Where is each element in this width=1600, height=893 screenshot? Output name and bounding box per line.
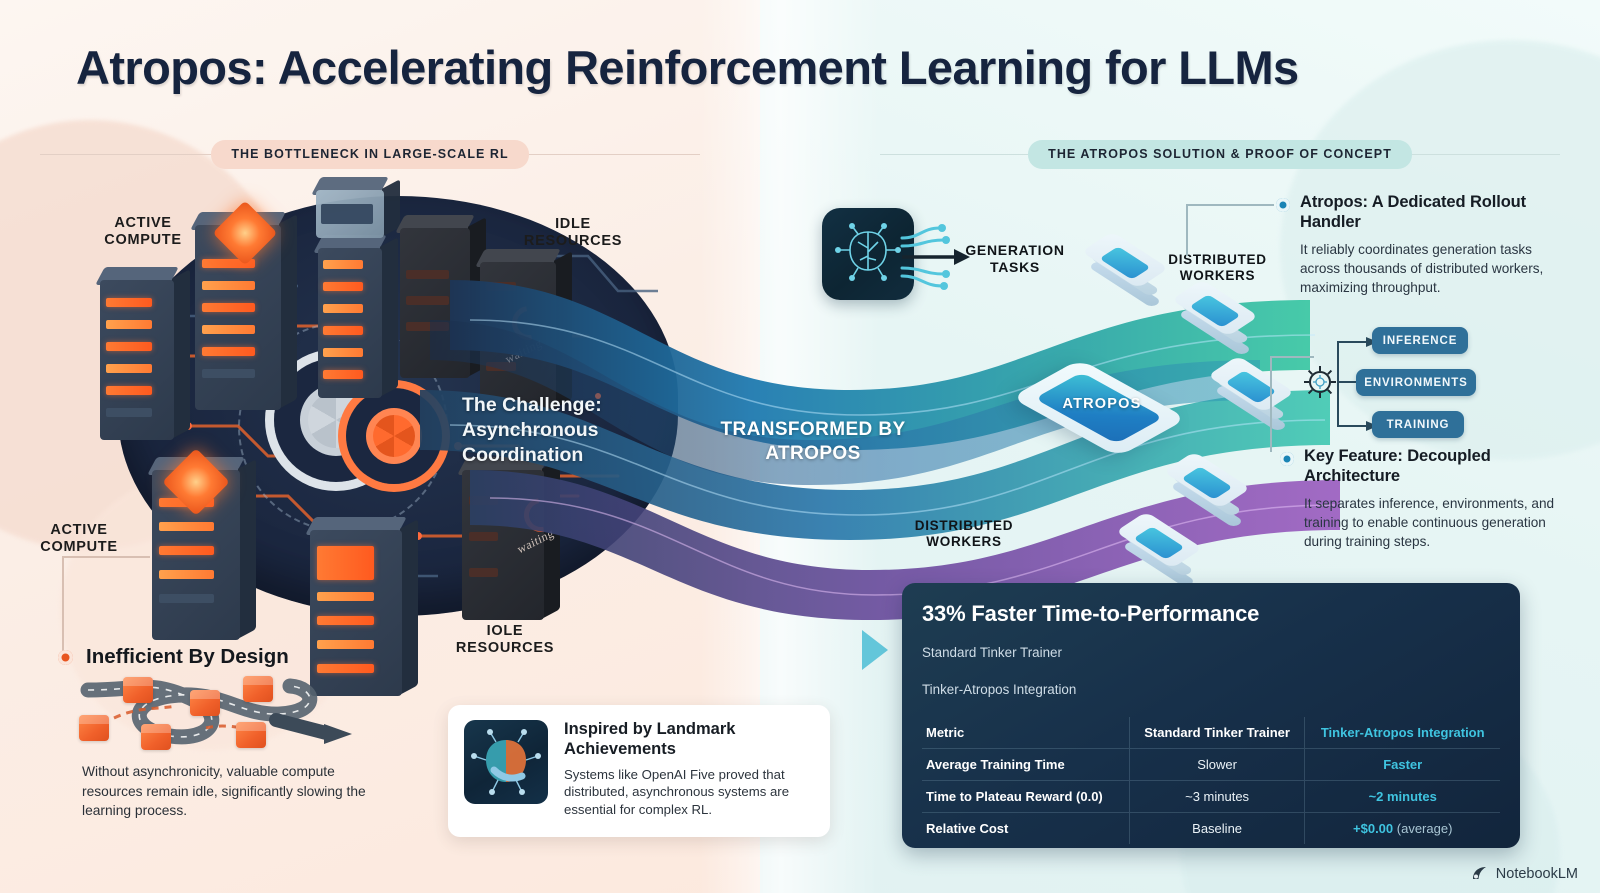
table-row: Relative Cost Baseline +$0.00 (average) [922, 813, 1500, 845]
cell-atropos-note: (average) [1397, 821, 1453, 836]
inefficient-lead-v [62, 556, 64, 652]
package-icon-4 [141, 724, 171, 750]
callout-2-heading: Key Feature: Decoupled Architecture [1304, 446, 1572, 486]
metrics-panel: 33% Faster Time-to-Performance Standard … [902, 583, 1520, 848]
callout-rollout-handler: Atropos: A Dedicated Rollout Handler It … [1300, 192, 1568, 298]
callout-decoupled-architecture: Key Feature: Decoupled Architecture It s… [1304, 446, 1572, 552]
rule-right-b [1412, 154, 1560, 155]
inefficient-body: Without asynchronicity, valuable compute… [82, 762, 374, 821]
label-distributed-workers-bottom: DISTRIBUTED WORKERS [900, 518, 1028, 550]
landmark-card: Inspired by Landmark Achievements System… [448, 705, 830, 837]
panel-pointer-arrow [862, 630, 888, 670]
inefficient-heading: Inefficient By Design [86, 645, 289, 669]
atropos-node-label: ATROPOS [1048, 396, 1156, 412]
brain-split-icon [464, 720, 548, 804]
cell-metric: Average Training Time [922, 749, 1129, 781]
rack-side [172, 269, 190, 439]
package-icon-6 [236, 722, 266, 748]
package-icon-5 [79, 715, 109, 741]
rack-body [316, 190, 384, 238]
section-pill-bottleneck: THE BOTTLENECK IN LARGE-SCALE RL [211, 140, 528, 169]
badge-environments[interactable]: ENVIRONMENTS [1356, 369, 1476, 396]
callout-lead-2-v [1270, 356, 1272, 452]
callout-2-body: It separates inference, environments, an… [1304, 495, 1572, 551]
metrics-table: Metric Standard Tinker Trainer Tinker-At… [922, 717, 1500, 844]
cell-metric: Time to Plateau Reward (0.0) [922, 781, 1129, 813]
inefficient-marker [58, 650, 73, 665]
table-header-row: Metric Standard Tinker Trainer Tinker-At… [922, 717, 1500, 749]
callout-marker-2 [1280, 452, 1294, 466]
inefficient-lead-h [62, 556, 150, 558]
callout-lead-1-v [1186, 204, 1188, 256]
rack-side [279, 214, 297, 409]
package-icon-1 [123, 677, 153, 703]
callout-lead-2-h [1270, 356, 1314, 358]
metrics-legend-standard: Standard Tinker Trainer [922, 645, 1500, 660]
cell-atropos: Faster [1305, 749, 1500, 781]
rack-body [100, 280, 174, 440]
label-active-compute-top: ACTIVE COMPUTE [78, 215, 208, 249]
callout-1-body: It reliably coordinates generation tasks… [1300, 241, 1568, 297]
cell-standard: Baseline [1129, 813, 1305, 845]
col-metric: Metric [922, 717, 1129, 749]
worker-node-2 [1176, 290, 1254, 352]
challenge-note: The Challenge: Asynchronous Coordination [462, 393, 702, 468]
page-title: Atropos: Accelerating Reinforcement Lear… [76, 42, 1526, 95]
callout-lead-1-h [1186, 204, 1274, 206]
badge-inference[interactable]: INFERENCE [1372, 327, 1468, 354]
server-monitor-unit [316, 190, 384, 238]
table-row: Average Training Time Slower Faster [922, 749, 1500, 781]
package-icon-2 [190, 690, 220, 716]
landmark-card-body: Systems like OpenAI Five proved that dis… [564, 766, 814, 819]
col-standard: Standard Tinker Trainer [1129, 717, 1305, 749]
cell-atropos: ~2 minutes [1305, 781, 1500, 813]
rule-left-a [40, 154, 211, 155]
rack-side [238, 459, 256, 639]
badge-training[interactable]: TRAINING [1372, 411, 1464, 438]
notebooklm-logo-icon [1470, 864, 1489, 883]
package-icon-3 [243, 676, 273, 702]
watermark-label: NotebookLM [1496, 866, 1578, 882]
cell-standard: ~3 minutes [1129, 781, 1305, 813]
section-header-left: THE BOTTLENECK IN LARGE-SCALE RL [40, 140, 700, 169]
rule-left-b [529, 154, 700, 155]
worker-node-3 [1212, 366, 1290, 428]
label-active-compute-bottom: ACTIVE COMPUTE [14, 522, 144, 556]
cell-atropos-value: +$0.00 [1353, 821, 1393, 836]
section-pill-solution: THE ATROPOS SOLUTION & PROOF OF CONCEPT [1028, 140, 1412, 169]
section-header-right: THE ATROPOS SOLUTION & PROOF OF CONCEPT [880, 140, 1560, 169]
callout-marker-1 [1276, 198, 1290, 212]
label-generation-tasks: GENERATION TASKS [955, 242, 1075, 275]
callout-1-heading: Atropos: A Dedicated Rollout Handler [1300, 192, 1568, 232]
label-distributed-workers-top: DISTRIBUTED WORKERS [1155, 252, 1280, 284]
transformed-label: TRANSFORMED BY ATROPOS [718, 418, 908, 467]
worker-node-4 [1168, 462, 1246, 524]
rule-right-a [880, 154, 1028, 155]
table-row: Time to Plateau Reward (0.0) ~3 minutes … [922, 781, 1500, 813]
landmark-card-heading: Inspired by Landmark Achievements [564, 720, 814, 760]
server-rack-active-1 [100, 280, 174, 440]
watermark: NotebookLM [1470, 864, 1578, 883]
atropos-node [1030, 368, 1172, 472]
worker-node-1 [1086, 242, 1164, 304]
metrics-panel-title: 33% Faster Time-to-Performance [922, 601, 1500, 627]
cell-standard: Slower [1129, 749, 1305, 781]
worker-node-5 [1120, 522, 1198, 584]
cell-metric: Relative Cost [922, 813, 1129, 845]
infographic-canvas: Atropos: Accelerating Reinforcement Lear… [0, 0, 1600, 893]
metrics-legend-atropos: Tinker-Atropos Integration [922, 682, 1500, 697]
cell-atropos: +$0.00 (average) [1305, 813, 1500, 845]
col-atropos: Tinker-Atropos Integration [1305, 717, 1500, 749]
